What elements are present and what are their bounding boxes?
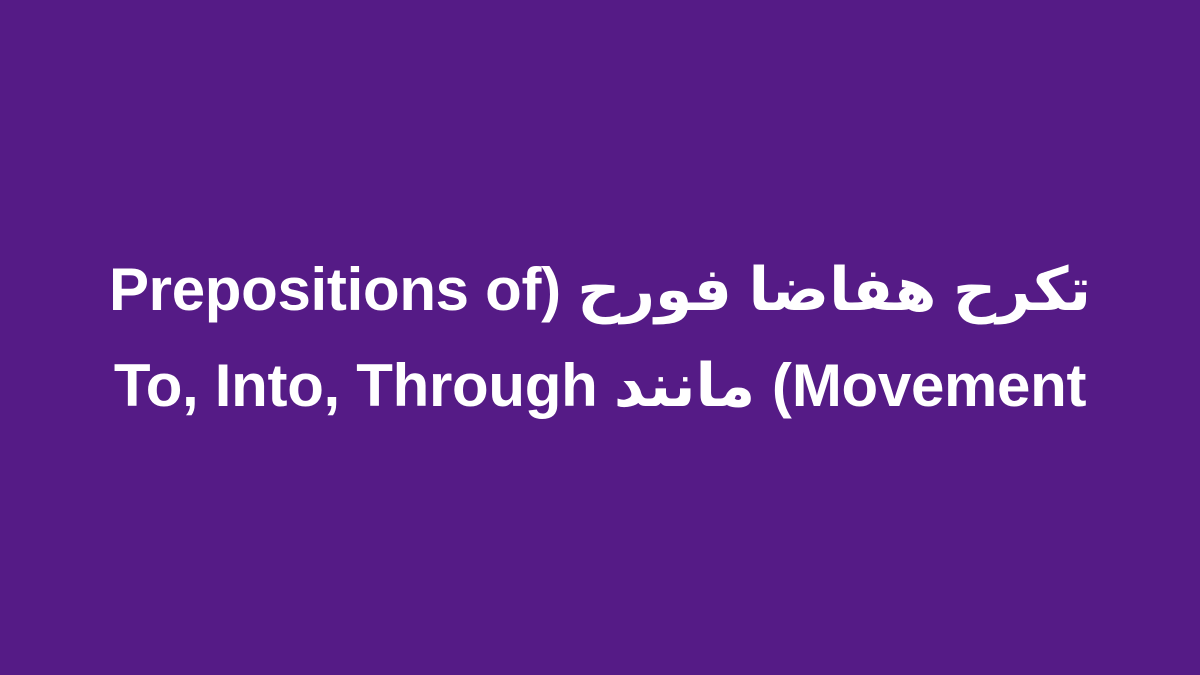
title-card: Prepositions of) حروف اضافه حرکت To, Int… — [0, 0, 1200, 675]
title-line-1: Prepositions of) حروف اضافه حرکت — [100, 242, 1100, 338]
page-title: Prepositions of) حروف اضافه حرکت To, Int… — [100, 242, 1100, 434]
title-line-2: To, Into, Through مانند (Movement — [100, 338, 1100, 434]
